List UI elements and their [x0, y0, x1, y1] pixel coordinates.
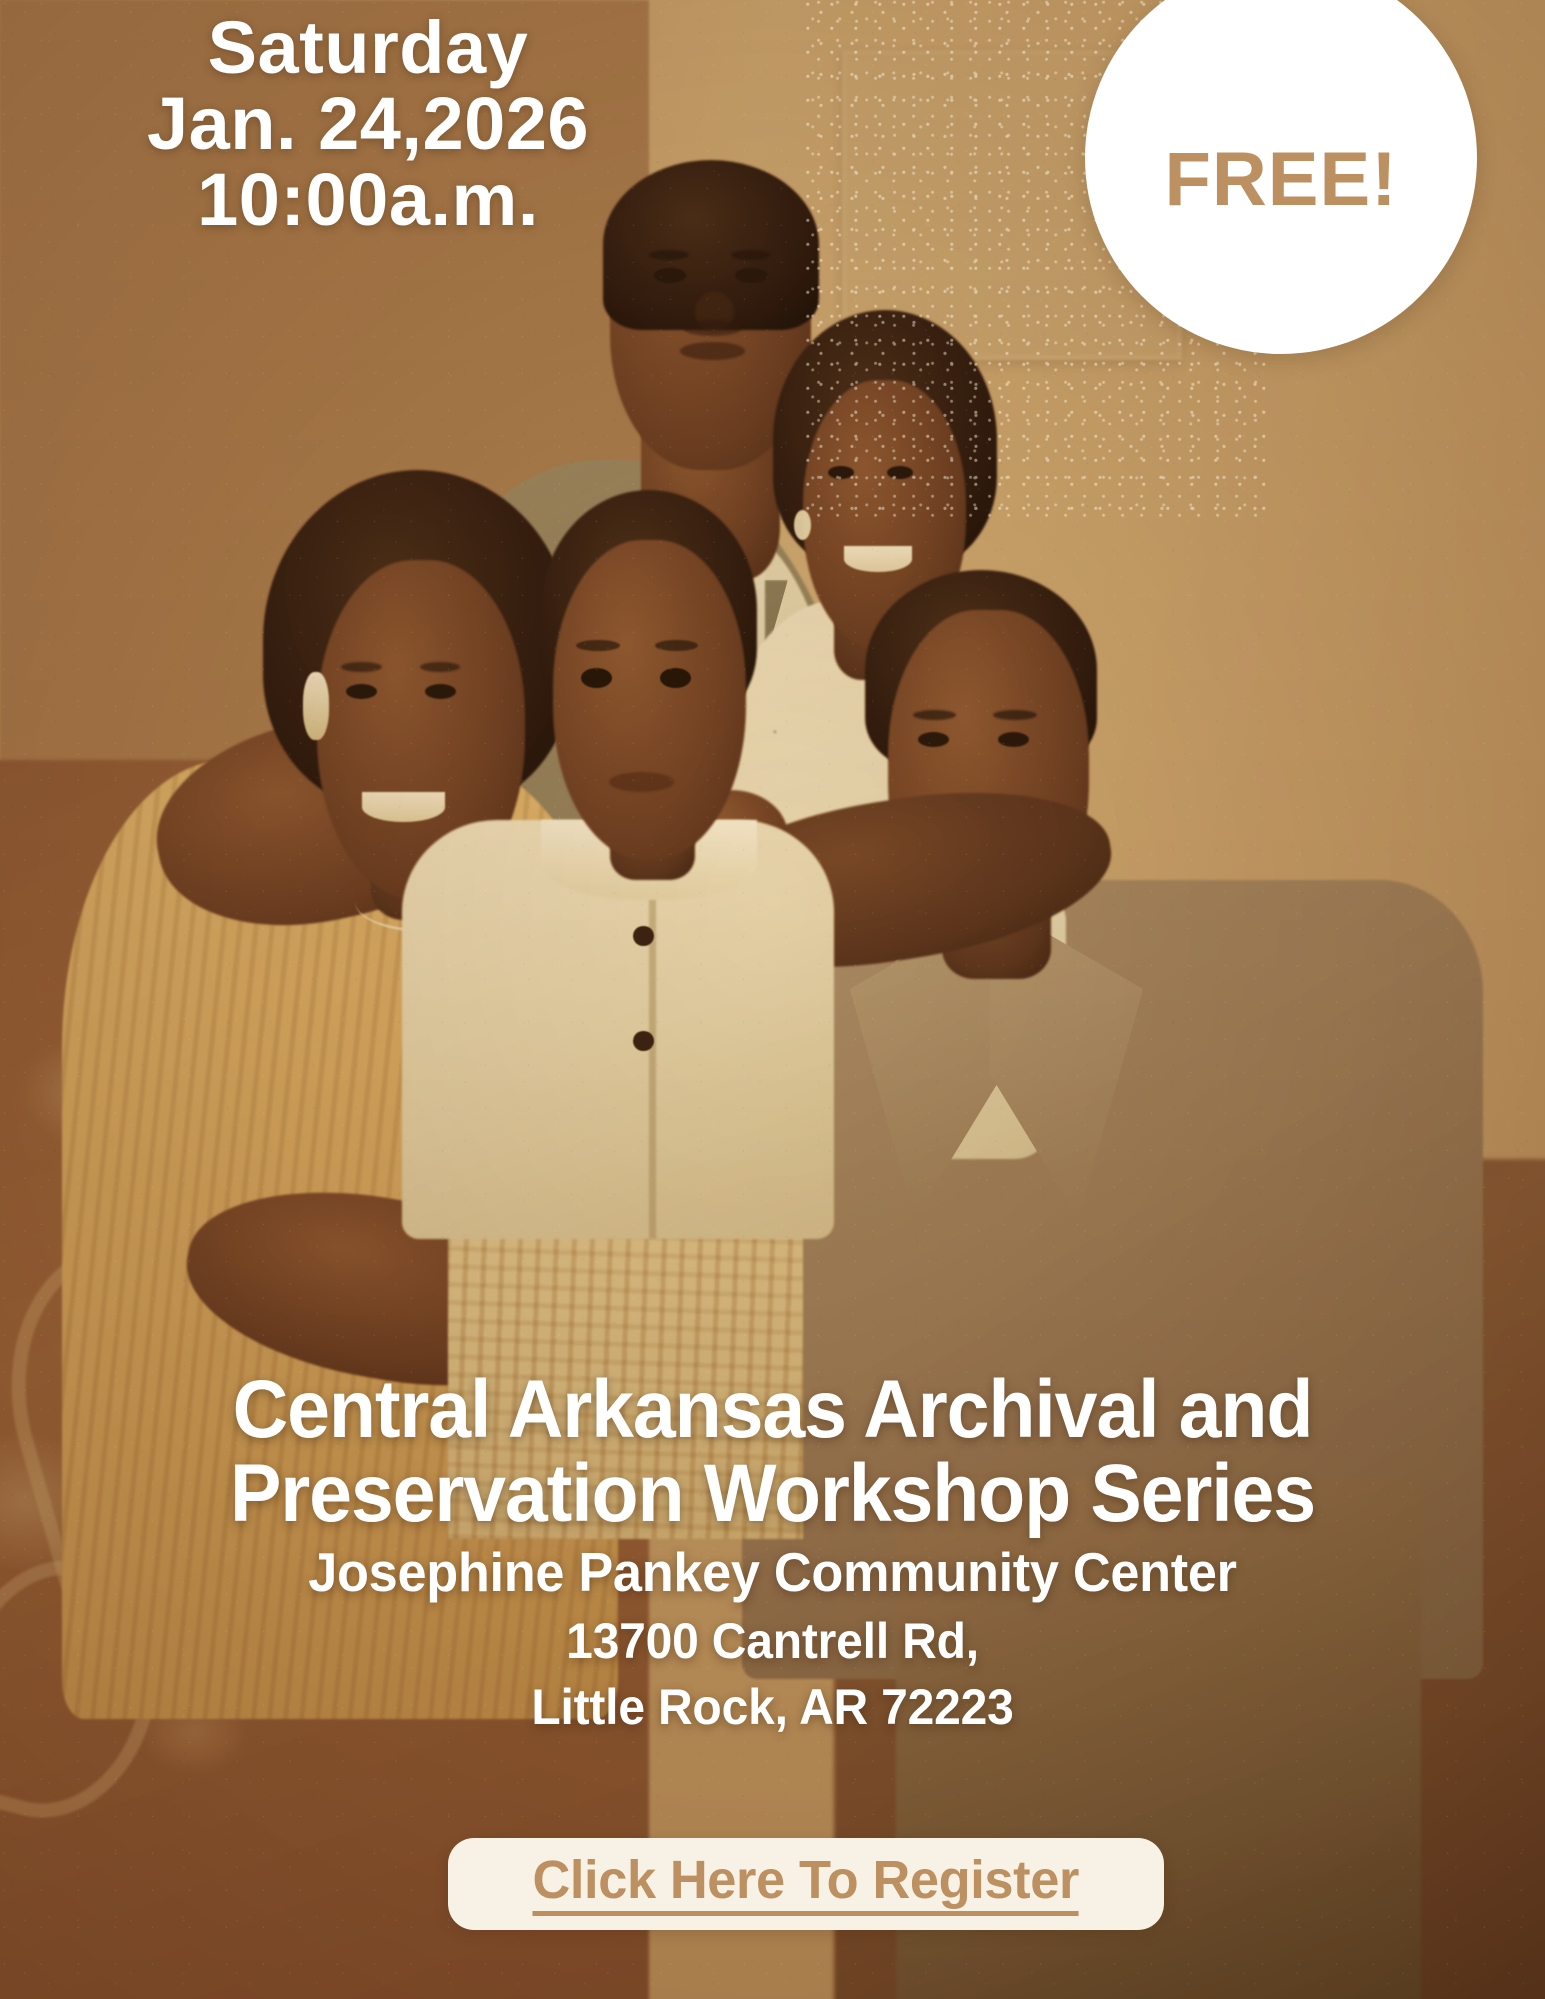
event-info-block: Central Arkansas Archival and Preservati…	[0, 1368, 1545, 1736]
free-badge-label: FREE!	[1165, 136, 1398, 223]
event-title-line-2: Preservation Workshop Series	[46, 1452, 1498, 1536]
event-address-line-1: 13700 Cantrell Rd,	[31, 1612, 1514, 1670]
flyer-canvas: Saturday Jan. 24,2026 10:00a.m. FREE! Ce…	[0, 0, 1545, 1999]
event-venue: Josephine Pankey Community Center	[39, 1541, 1507, 1604]
event-time-label: 10:00a.m.	[58, 162, 678, 238]
event-date-block: Saturday Jan. 24,2026 10:00a.m.	[58, 10, 678, 239]
event-date-label: Jan. 24,2026	[58, 86, 678, 162]
event-address-line-2: Little Rock, AR 72223	[31, 1678, 1514, 1736]
event-title-line-1: Central Arkansas Archival and	[46, 1368, 1498, 1452]
event-day-label: Saturday	[58, 10, 678, 86]
register-button-label: Click Here To Register	[533, 1853, 1080, 1916]
register-button[interactable]: Click Here To Register	[448, 1838, 1164, 1930]
